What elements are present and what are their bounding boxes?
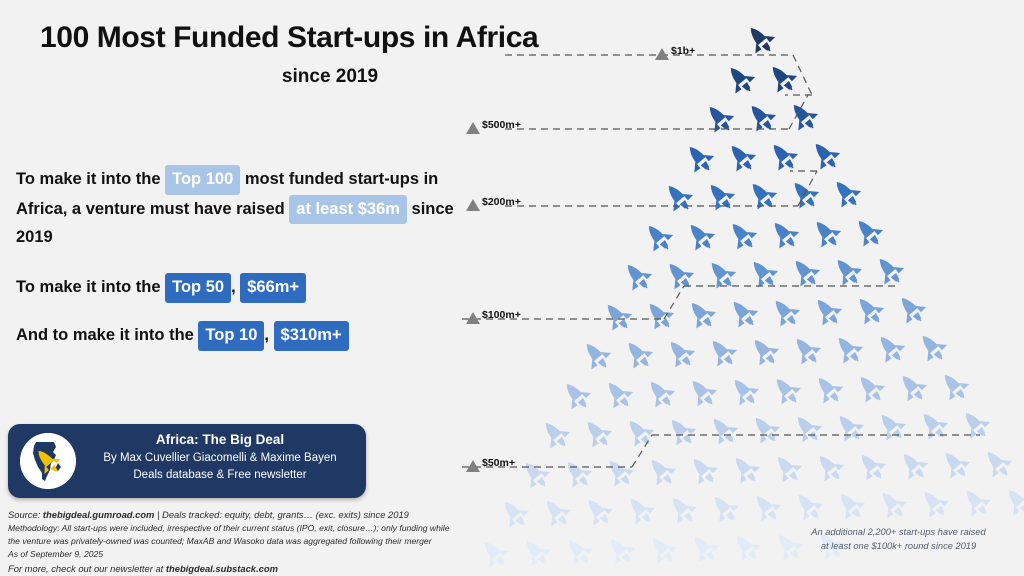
annotation-line-1: An additional 2,200+ start-ups have rais… bbox=[791, 526, 1006, 540]
africa-rocket-logo-icon bbox=[20, 433, 76, 489]
footnote-text: For more, check out our newsletter at bbox=[8, 563, 166, 574]
tier-marker-triangle-icon bbox=[466, 122, 480, 134]
brand-tagline: Deals database & Free newsletter bbox=[82, 467, 358, 484]
narrative-text: And to make it into the bbox=[16, 326, 198, 344]
footnotes: Source: thebigdeal.gumroad.com | Deals t… bbox=[8, 508, 508, 576]
tier-label-text: $50m+ bbox=[482, 457, 515, 469]
chart-annotation: An additional 2,200+ start-ups have rais… bbox=[791, 526, 1006, 554]
narrative-paragraph-top10: And to make it into the Top 10, $310m+ bbox=[16, 321, 456, 351]
tier-label-text: $100m+ bbox=[482, 309, 521, 321]
tier-marker-triangle-icon bbox=[466, 199, 480, 211]
tier-marker-triangle-icon bbox=[466, 460, 480, 472]
narrative-block: To make it into the Top 100 most funded … bbox=[16, 165, 456, 369]
footnote-newsletter: For more, check out our newsletter at th… bbox=[8, 562, 508, 576]
brand-badge[interactable]: Africa: The Big Deal By Max Cuvellier Gi… bbox=[8, 424, 366, 498]
newsletter-link[interactable]: thebigdeal.substack.com bbox=[166, 563, 278, 574]
brand-badge-text: Africa: The Big Deal By Max Cuvellier Gi… bbox=[82, 430, 358, 484]
brand-name: Africa: The Big Deal bbox=[82, 430, 358, 450]
narrative-paragraph-top100: To make it into the Top 100 most funded … bbox=[16, 165, 456, 251]
narrative-text: To make it into the bbox=[16, 170, 165, 188]
footnote-asof: As of September 9, 2025 bbox=[8, 548, 508, 561]
tier-label-text: $500m+ bbox=[482, 119, 521, 131]
badge-310m: $310m+ bbox=[274, 321, 349, 351]
badge-top-100: Top 100 bbox=[165, 165, 240, 195]
footnote-methodology-1: Methodology: All start-ups were included… bbox=[8, 522, 508, 535]
badge-top-50: Top 50 bbox=[165, 273, 231, 303]
brand-authors: By Max Cuvellier Giacomelli & Maxime Bay… bbox=[82, 450, 358, 467]
narrative-text: , bbox=[264, 326, 273, 344]
badge-at-least-36m: at least $36m bbox=[289, 195, 407, 225]
narrative-text: To make it into the bbox=[16, 278, 165, 296]
footnote-source: Source: thebigdeal.gumroad.com | Deals t… bbox=[8, 508, 508, 522]
tier-label-text: $1b+ bbox=[671, 45, 695, 57]
badge-top-10: Top 10 bbox=[198, 321, 264, 351]
source-link[interactable]: thebigdeal.gumroad.com bbox=[43, 509, 154, 520]
tier-label-text: $200m+ bbox=[482, 196, 521, 208]
footnote-text: | Deals tracked: equity, debt, grants… (… bbox=[154, 509, 408, 520]
annotation-line-2: at least one $100k+ round since 2019 bbox=[791, 540, 1006, 554]
footnote-text: Source: bbox=[8, 509, 43, 520]
narrative-text: , bbox=[231, 278, 240, 296]
badge-66m: $66m+ bbox=[240, 273, 306, 303]
tier-marker-triangle-icon bbox=[655, 48, 669, 60]
narrative-paragraph-top50: To make it into the Top 50, $66m+ bbox=[16, 273, 456, 303]
footnote-methodology-2: the venture was privately-owned was coun… bbox=[8, 535, 508, 548]
tier-marker-triangle-icon bbox=[466, 312, 480, 324]
